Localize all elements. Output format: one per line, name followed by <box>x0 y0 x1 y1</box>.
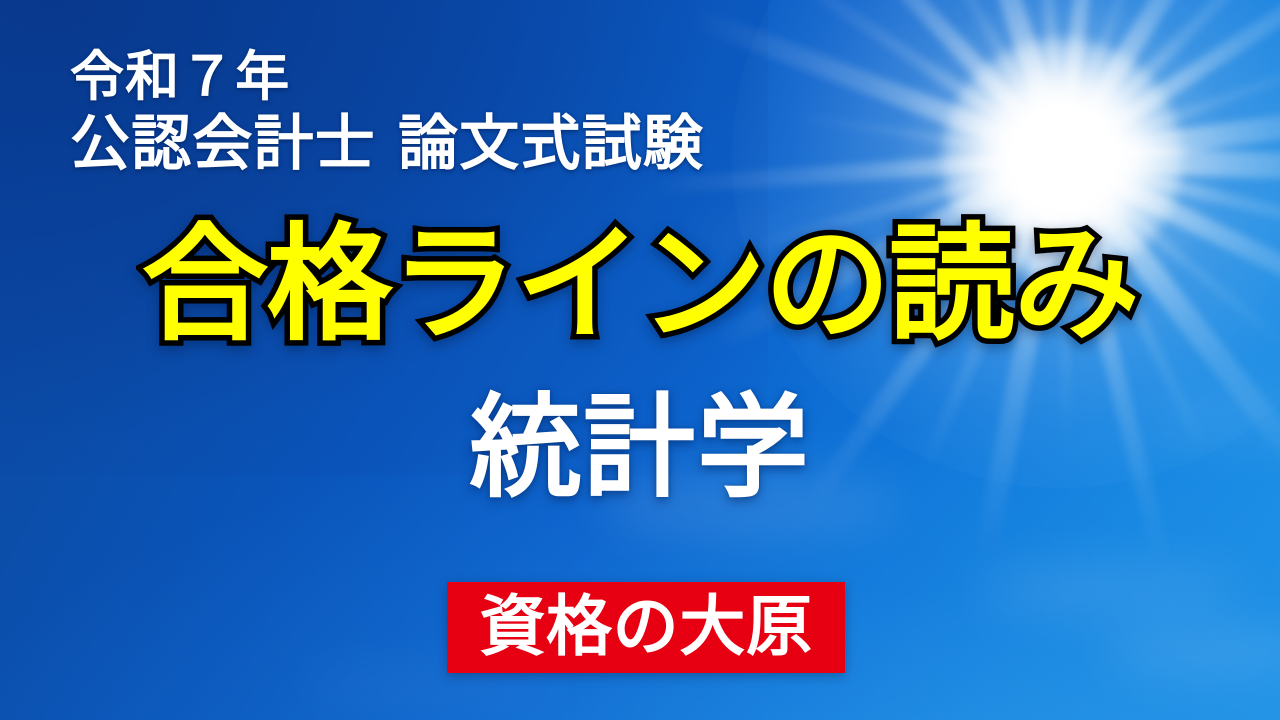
header-block: 令和７年 公認会計士 論文式試験 <box>70 48 704 177</box>
subject-title: 統計学 <box>0 392 1280 504</box>
main-title: 合格ラインの読み <box>0 222 1280 348</box>
brand-badge: 資格の大原 <box>447 582 845 673</box>
thumbnail-content: 令和７年 公認会計士 論文式試験 合格ラインの読み 統計学 資格の大原 <box>0 0 1280 720</box>
header-year-line: 令和７年 <box>70 48 704 105</box>
video-thumbnail: 令和７年 公認会計士 論文式試験 合格ラインの読み 統計学 資格の大原 <box>0 0 1280 720</box>
header-exam-line: 公認会計士 論文式試験 <box>70 113 704 177</box>
brand-badge-label: 資格の大原 <box>479 594 812 660</box>
